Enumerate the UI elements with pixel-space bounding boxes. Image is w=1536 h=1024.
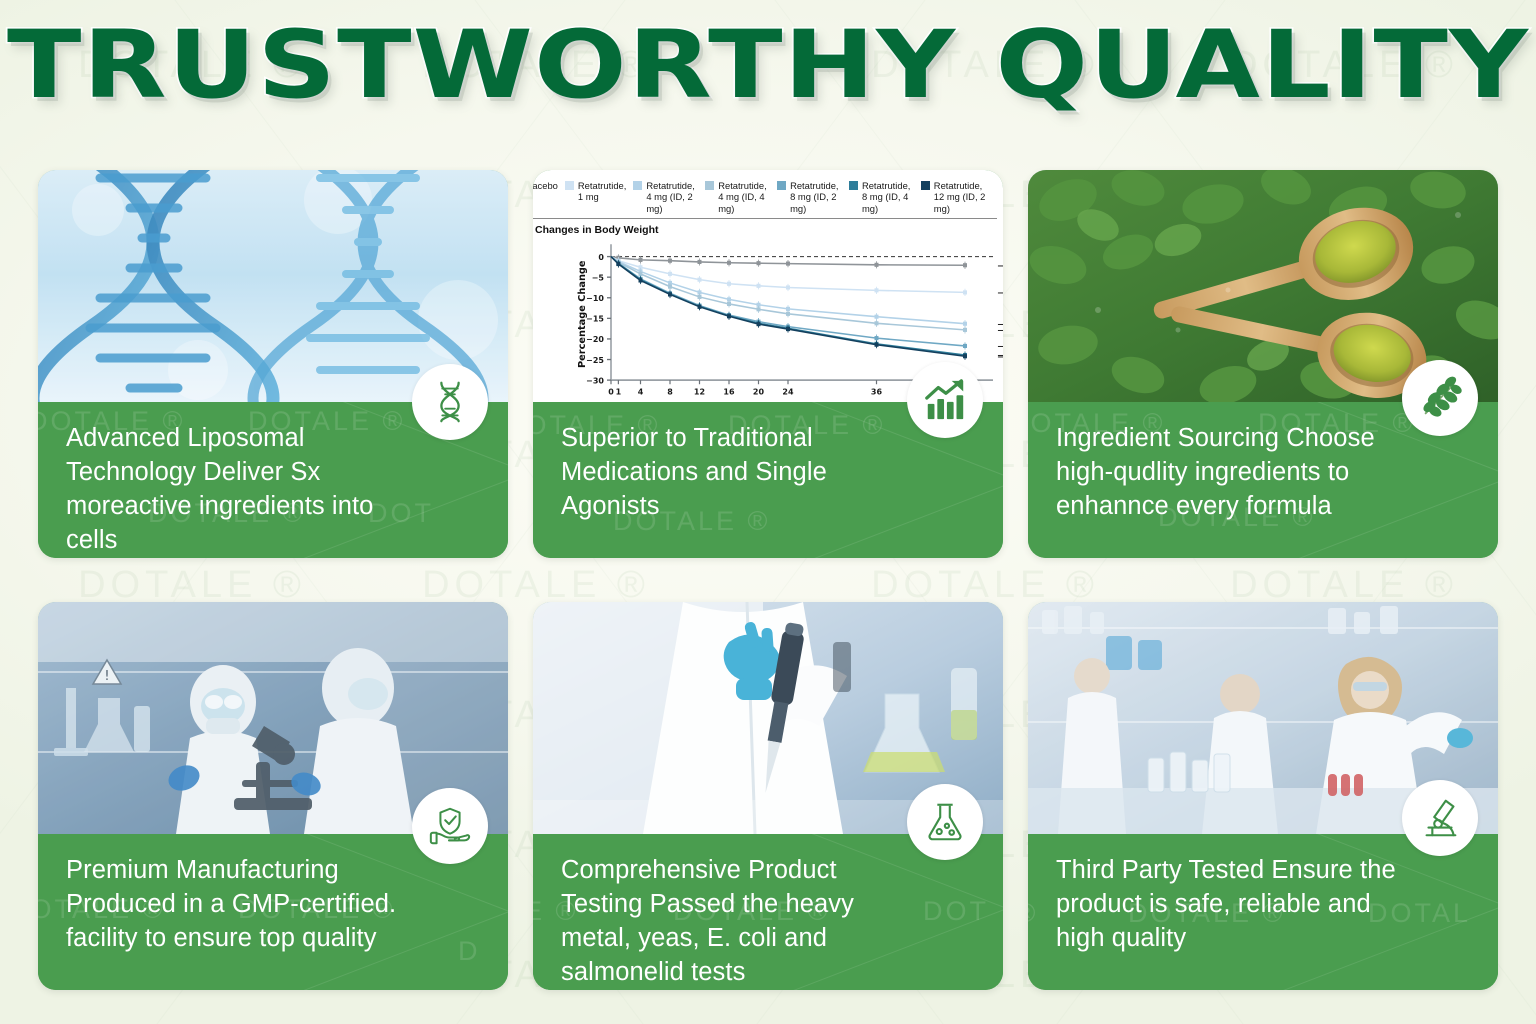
microscope-icon xyxy=(1402,780,1478,856)
dna-icon xyxy=(412,364,488,440)
page-title: TRUSTWORTHY QUALITY xyxy=(7,16,1529,116)
card-caption-text: Superior to Traditional Medications and … xyxy=(561,422,917,524)
legend-label: Retatrutide, 8 mg (ID, 2 mg) xyxy=(790,180,842,214)
feature-card-premium-manufacturing[interactable]: ! xyxy=(38,602,508,990)
card-caption: E ® DOTALE ® DOTAL Third Party Tested En… xyxy=(1028,834,1498,990)
legend-label: Retatrutide, 12 mg (ID, 2 mg) xyxy=(934,180,990,214)
feature-card-superior-efficacy[interactable]: PlaceboRetatrutide, 1 mgRetatrutide, 4 m… xyxy=(533,170,1003,558)
svg-text:−20: −20 xyxy=(586,335,604,345)
svg-text:8: 8 xyxy=(667,387,673,397)
svg-text:−10: −10 xyxy=(586,293,604,303)
svg-text:−25: −25 xyxy=(586,355,604,365)
feature-card-ingredient-sourcing[interactable]: DOTALE ® DOTALE ® DOTALE ® Ingredient So… xyxy=(1028,170,1498,558)
svg-text:−15: −15 xyxy=(586,314,604,324)
feature-card-liposomal-technology[interactable]: DOTALE ® DOTALE ® D DOTALE ® DOT Advance… xyxy=(38,170,508,558)
svg-text:4: 4 xyxy=(638,387,644,397)
legend-color-swatch xyxy=(565,181,574,190)
svg-text:20: 20 xyxy=(753,387,764,397)
legend-color-swatch xyxy=(705,181,714,190)
svg-text:16: 16 xyxy=(723,387,734,397)
svg-text:0: 0 xyxy=(608,387,614,397)
page-title-wrapper: TRUSTWORTHY QUALITY xyxy=(0,16,1536,116)
card-caption-text: Advanced Liposomal Technology Deliver Sx… xyxy=(66,422,422,558)
svg-text:−2.1: −2.1 xyxy=(997,261,1003,271)
svg-text:12: 12 xyxy=(694,387,705,397)
bar-chart-growth-icon xyxy=(907,362,983,438)
svg-text:Percentage Change: Percentage Change xyxy=(577,260,588,368)
legend-label: Retatrutide, 4 mg (ID, 4 mg) xyxy=(718,180,770,214)
svg-text:1: 1 xyxy=(616,387,622,397)
chart-legend-item: Retatrutide, 8 mg (ID, 4 mg) xyxy=(849,180,921,214)
svg-text:−24.2: −24.2 xyxy=(997,352,1003,362)
card-caption-text: Comprehensive Product Testing Passed the… xyxy=(561,854,917,990)
svg-text:36: 36 xyxy=(871,387,882,397)
legend-color-swatch xyxy=(633,181,642,190)
legend-color-swatch xyxy=(849,181,858,190)
feature-card-grid: DOTALE ® DOTALE ® D DOTALE ® DOT Advance… xyxy=(38,170,1498,990)
chart-legend-item: Placebo xyxy=(533,180,565,191)
card-caption-text: Premium Manufacturing Produced in a GMP-… xyxy=(66,854,422,956)
svg-text:−17.8: −17.8 xyxy=(997,325,1003,335)
chart-legend-item: Retatrutide, 4 mg (ID, 4 mg) xyxy=(705,180,777,214)
legend-label: Retatrutide, 8 mg (ID, 4 mg) xyxy=(862,180,914,214)
chart-legend-item: Retatrutide, 12 mg (ID, 2 mg) xyxy=(921,180,997,214)
chart-legend-item: Retatrutide, 4 mg (ID, 2 mg) xyxy=(633,180,705,214)
chart-title: Changes in Body Weight xyxy=(533,219,1003,236)
legend-label: Retatrutide, 4 mg (ID, 2 mg) xyxy=(646,180,698,214)
svg-text:−5: −5 xyxy=(592,273,605,283)
svg-text:0: 0 xyxy=(598,252,604,262)
card-caption-text: Third Party Tested Ensure the product is… xyxy=(1056,854,1412,956)
legend-color-swatch xyxy=(921,181,930,190)
svg-text:−8.7: −8.7 xyxy=(997,288,1003,298)
svg-text:−30: −30 xyxy=(586,376,604,386)
leaf-branch-icon xyxy=(1402,360,1478,436)
chart-legend: PlaceboRetatrutide, 1 mgRetatrutide, 4 m… xyxy=(533,174,997,219)
legend-color-swatch xyxy=(777,181,786,190)
svg-text:24: 24 xyxy=(782,387,793,397)
feature-card-third-party-tested[interactable]: E ® DOTALE ® DOTAL Third Party Tested En… xyxy=(1028,602,1498,990)
chart-legend-item: Retatrutide, 1 mg xyxy=(565,180,633,203)
chart-legend-item: Retatrutide, 8 mg (ID, 2 mg) xyxy=(777,180,849,214)
card-caption-text: Ingredient Sourcing Choose high-qudlity … xyxy=(1056,422,1412,524)
flask-icon xyxy=(907,784,983,860)
legend-label: Placebo xyxy=(533,180,558,191)
legend-label: Retatrutide, 1 mg xyxy=(578,180,626,203)
feature-card-product-testing[interactable]: ALE ® DOTALE ® DOT Comprehensive Product… xyxy=(533,602,1003,990)
hand-shield-check-icon xyxy=(412,788,488,864)
